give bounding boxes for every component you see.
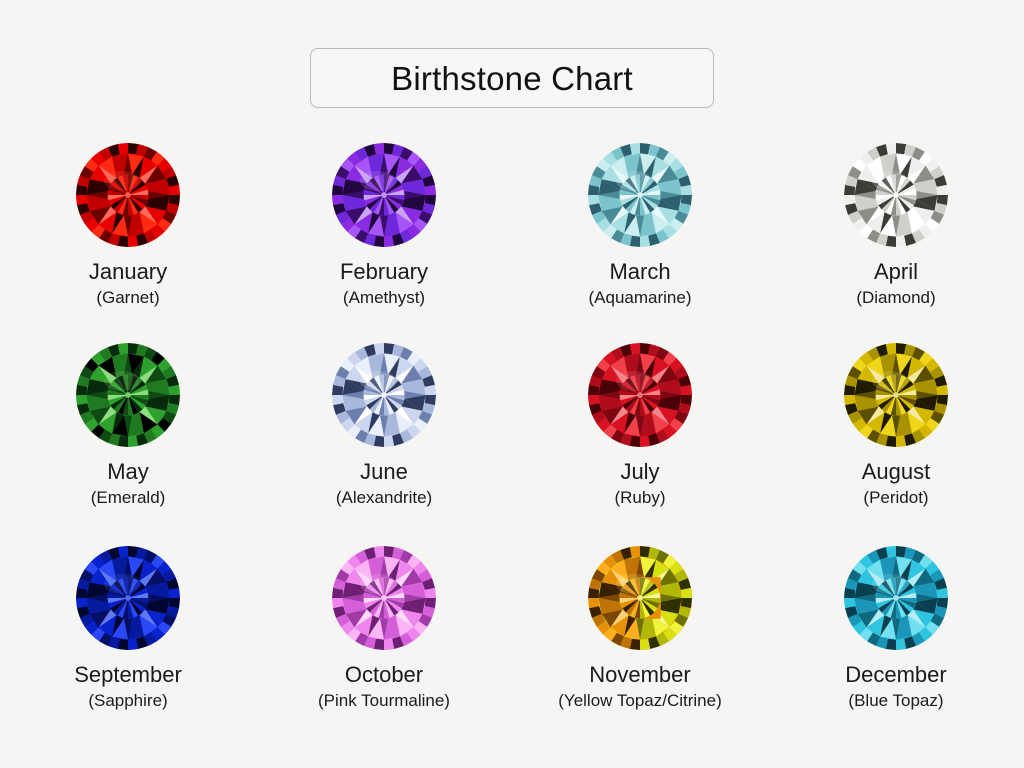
month-label: November [589, 663, 690, 688]
gem-round-brilliant-split-icon [587, 545, 693, 651]
gem-image-april [843, 142, 949, 248]
gem-round-brilliant-icon [331, 142, 437, 248]
stone-label: (Emerald) [91, 488, 166, 507]
month-label: February [340, 260, 428, 285]
stone-label: (Blue Topaz) [848, 691, 943, 710]
page-title: Birthstone Chart [391, 62, 633, 95]
birthstone-cell[interactable]: March(Aquamarine) [512, 142, 768, 342]
stone-label: (Peridot) [863, 488, 928, 507]
gem-round-brilliant-icon [587, 342, 693, 448]
stone-label: (Aquamarine) [589, 288, 692, 307]
birthstone-cell[interactable]: July(Ruby) [512, 342, 768, 545]
birthstone-cell[interactable]: August(Peridot) [768, 342, 1024, 545]
stone-label: (Amethyst) [343, 288, 425, 307]
stone-label: (Sapphire) [88, 691, 167, 710]
month-label: April [874, 260, 918, 285]
gem-image-june [331, 342, 437, 448]
gem-image-january [75, 142, 181, 248]
birthstone-cell[interactable]: April(Diamond) [768, 142, 1024, 342]
gem-round-brilliant-icon [843, 142, 949, 248]
stone-label: (Diamond) [856, 288, 935, 307]
gem-round-brilliant-icon [75, 142, 181, 248]
gem-round-brilliant-icon [331, 342, 437, 448]
birthstone-cell[interactable]: October(Pink Tourmaline) [256, 545, 512, 745]
gem-image-february [331, 142, 437, 248]
gem-image-march [587, 142, 693, 248]
month-label: June [360, 460, 408, 485]
birthstone-grid: January(Garnet)February(Amethyst)March(A… [0, 142, 1024, 745]
month-label: March [609, 260, 670, 285]
stone-label: (Garnet) [96, 288, 159, 307]
birthstone-cell[interactable]: September(Sapphire) [0, 545, 256, 745]
gem-round-brilliant-icon [75, 545, 181, 651]
gem-image-september [75, 545, 181, 651]
birthstone-cell[interactable]: February(Amethyst) [256, 142, 512, 342]
gem-round-brilliant-icon [843, 545, 949, 651]
month-label: July [620, 460, 659, 485]
month-label: August [862, 460, 931, 485]
gem-image-november [587, 545, 693, 651]
gem-round-brilliant-icon [331, 545, 437, 651]
month-label: September [74, 663, 182, 688]
birthstone-cell[interactable]: December(Blue Topaz) [768, 545, 1024, 745]
gem-round-brilliant-icon [587, 142, 693, 248]
birthstone-cell[interactable]: January(Garnet) [0, 142, 256, 342]
gem-image-december [843, 545, 949, 651]
birthstone-cell[interactable]: June(Alexandrite) [256, 342, 512, 545]
gem-round-brilliant-icon [75, 342, 181, 448]
stone-label: (Ruby) [614, 488, 665, 507]
stone-label: (Pink Tourmaline) [318, 691, 450, 710]
gem-round-brilliant-icon [843, 342, 949, 448]
birthstone-cell[interactable]: November(Yellow Topaz/Citrine) [512, 545, 768, 745]
month-label: May [107, 460, 149, 485]
month-label: January [89, 260, 167, 285]
stone-label: (Yellow Topaz/Citrine) [558, 691, 721, 710]
month-label: December [845, 663, 946, 688]
birthstone-cell[interactable]: May(Emerald) [0, 342, 256, 545]
stone-label: (Alexandrite) [336, 488, 432, 507]
gem-image-may [75, 342, 181, 448]
gem-image-july [587, 342, 693, 448]
gem-image-october [331, 545, 437, 651]
page-title-box: Birthstone Chart [310, 48, 714, 108]
gem-image-august [843, 342, 949, 448]
month-label: October [345, 663, 423, 688]
